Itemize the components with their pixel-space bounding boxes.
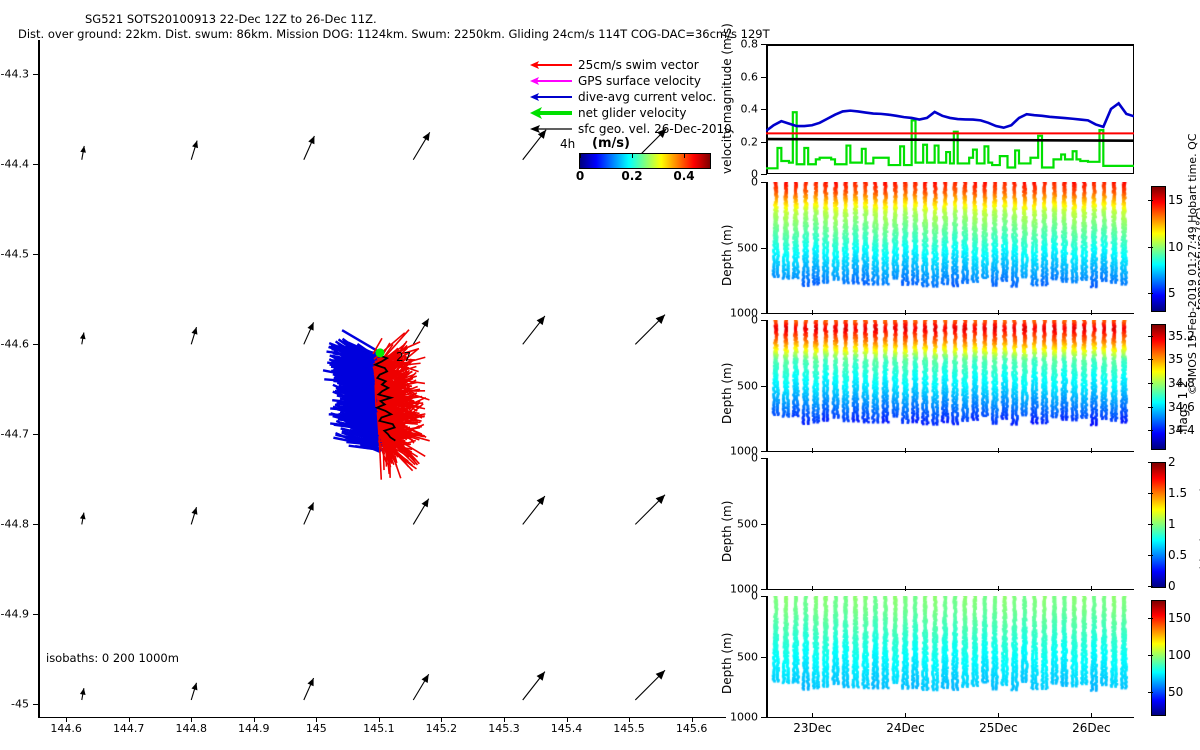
header-line-1: SG521 SOTS20100913 22-Dec 12Z to 26-Dec …: [85, 12, 377, 26]
depth-tick-label: 500: [737, 651, 758, 664]
depth-tick-label: 0: [751, 590, 758, 603]
arrow-icon: [530, 75, 574, 87]
salinity-y-axis-label: Depth (m): [720, 363, 734, 424]
colorbar-tick: [1148, 293, 1153, 294]
velocity-y-axis-label: velocity magnitude (m/s): [720, 23, 734, 174]
colorbar-tick-label: 1.5: [1168, 486, 1187, 500]
map-y-tick-label: -44.7: [1, 428, 29, 441]
colorbar-tick: [684, 153, 685, 158]
chlorophyll-panel[interactable]: 05001000 Depth (m) 00.511.52 chl-a (mg m…: [766, 458, 1134, 590]
map-y-tick-label: -44.9: [1, 608, 29, 621]
legend-item-swim-vector[interactable]: 25cm/s swim vector: [530, 57, 730, 73]
map-x-tick-label: 145: [306, 722, 327, 735]
time-tick: [1091, 448, 1092, 453]
chlorophyll-y-axis-label: Depth (m): [720, 501, 734, 562]
colorbar-tick: [1148, 586, 1153, 587]
time-tick-label: 23Dec: [793, 721, 832, 735]
map-x-tick-label: 145.6: [676, 722, 708, 735]
colorbar-tick-label: 35: [1168, 352, 1183, 366]
time-tick: [998, 586, 999, 591]
temperature-panel[interactable]: 05001000 Depth (m) 51015 temperature (°C…: [766, 182, 1134, 314]
colorbar-tick-label: 0: [1168, 579, 1176, 593]
colorbar-tick: [1148, 555, 1153, 556]
arrow-icon: [530, 91, 574, 103]
velocity-y-tick: [761, 174, 767, 175]
depth-tick-label: 0: [751, 452, 758, 465]
legend-label: GPS surface velocity: [578, 74, 701, 88]
colorbar-tick-label: 0.4: [673, 169, 694, 183]
map-legend: 25cm/s swim vector GPS surface velocity …: [530, 57, 730, 137]
map-x-tick-label: 144.9: [238, 722, 270, 735]
oxygen-saturation-panel[interactable]: 05001000 Depth (m) 50100150 Ox. sat. rat…: [766, 596, 1134, 718]
colorbar-tick: [1148, 247, 1153, 248]
colorbar-tick-label: 0.5: [1168, 548, 1187, 562]
time-tick: [812, 586, 813, 591]
colorbar-tick-label: 0.2: [621, 169, 642, 183]
colorbar-tick: [1148, 618, 1153, 619]
colorbar-tick-label: 10: [1168, 240, 1183, 254]
map-colorbar: [579, 153, 711, 169]
time-tick: [905, 448, 906, 453]
colorbar-tick-label: 150: [1168, 611, 1191, 625]
time-tick-label: 25Dec: [979, 721, 1018, 735]
colorbar-tick: [1148, 200, 1153, 201]
colorbar-tick: [1148, 336, 1153, 337]
legend-item-sfc-geo-velocity[interactable]: sfc geo. vel. 26-Dec-2010: [530, 121, 730, 137]
isobaths-label: isobaths: 0 200 1000m: [46, 651, 179, 665]
time-tick: [1091, 713, 1092, 718]
velocity-y-tick-label: 0.4: [741, 103, 759, 116]
time-tick: [1091, 310, 1092, 315]
colorbar-tick: [1148, 655, 1153, 656]
arrow-icon: [530, 59, 574, 71]
header-line-2: Dist. over ground: 22km. Dist. swum: 86k…: [18, 27, 770, 41]
colorbar-tick: [580, 153, 581, 158]
time-tick: [812, 713, 813, 718]
map-x-tick-label: 145.4: [551, 722, 583, 735]
map-y-tick-label: -44.4: [1, 158, 29, 171]
oxygen-section-canvas: [767, 596, 1135, 718]
legend-label: sfc geo. vel. 26-Dec-2010: [578, 122, 732, 136]
chlorophyll-colorbar: [1151, 462, 1166, 588]
time-tick: [812, 448, 813, 453]
colorbar-tick: [1148, 359, 1153, 360]
map-x-tick-label: 145.2: [426, 722, 458, 735]
legend-item-dive-avg-current[interactable]: dive-avg current veloc.: [530, 89, 730, 105]
map-x-tick-label: 145.5: [613, 722, 645, 735]
colorbar-units-label: (m/s): [592, 136, 630, 151]
legend-label: dive-avg current veloc.: [578, 90, 716, 104]
time-tick: [905, 310, 906, 315]
depth-tick-label: 500: [737, 242, 758, 255]
colorbar-tick: [1148, 493, 1153, 494]
dive-number-label: 27: [396, 350, 411, 364]
colorbar-tick: [1148, 462, 1153, 463]
colorbar-tick: [1148, 407, 1153, 408]
qc-flags-text: flags 1 2: [1176, 380, 1190, 432]
oxygen-colorbar: [1151, 600, 1166, 716]
map-x-tick-label: 144.7: [113, 722, 145, 735]
velocity-magnitude-panel[interactable]: 00.20.40.60.8 velocity magnitude (m/s): [766, 44, 1134, 174]
temperature-section-canvas: [767, 182, 1135, 314]
legend-item-net-glider-velocity[interactable]: net glider velocity: [530, 105, 730, 121]
depth-tick: [761, 524, 767, 525]
legend-item-gps-surface-velocity[interactable]: GPS surface velocity: [530, 73, 730, 89]
depth-tick: [761, 589, 767, 590]
colorbar-tick: [1148, 524, 1153, 525]
temperature-y-axis-label: Depth (m): [720, 225, 734, 286]
time-tick-label: 26Dec: [1072, 721, 1111, 735]
colorbar-tick-label: 100: [1168, 648, 1191, 662]
time-tick: [998, 448, 999, 453]
depth-tick-label: 500: [737, 380, 758, 393]
arrow-icon: [530, 123, 574, 135]
salinity-panel[interactable]: 05001000 Depth (m) 34.434.634.83535.2 sa…: [766, 320, 1134, 452]
map-y-tick-label: -44.8: [1, 518, 29, 531]
map-x-tick-label: 145.1: [363, 722, 395, 735]
time-tick: [905, 586, 906, 591]
map-y-tick-label: -45: [11, 698, 29, 711]
colorbar-tick-label: 0: [576, 169, 584, 183]
map-y-tick-label: -44.3: [1, 68, 29, 81]
depth-tick-label: 0: [751, 176, 758, 189]
colorbar-tick-label: 5: [1168, 286, 1176, 300]
time-tick: [905, 713, 906, 718]
time-tick: [812, 310, 813, 315]
time-scale-label: 4h: [560, 137, 575, 151]
time-tick: [998, 713, 999, 718]
depth-tick-label: 0: [751, 314, 758, 327]
oxygen-y-axis-label: Depth (m): [720, 633, 734, 694]
velocity-y-tick-label: 0.8: [741, 38, 759, 51]
velocity-y-tick-label: 0.2: [741, 135, 759, 148]
map-y-tick-label: -44.5: [1, 248, 29, 261]
colorbar-tick-label: 1: [1168, 517, 1176, 531]
map-y-tick-label: -44.6: [1, 338, 29, 351]
depth-tick: [761, 458, 767, 459]
map-x-tick-label: 144.6: [50, 722, 82, 735]
legend-label: net glider velocity: [578, 106, 686, 120]
colorbar-tick: [1148, 383, 1153, 384]
map-x-tick-label: 145.3: [488, 722, 520, 735]
colorbar-tick: [632, 153, 633, 158]
depth-tick-label: 500: [737, 518, 758, 531]
velocity-series-plot: [766, 44, 1134, 174]
map-x-tick-label: 144.8: [175, 722, 207, 735]
axis-bottom: [766, 589, 1134, 591]
colorbar-tick: [1148, 692, 1153, 693]
time-tick-label: 24Dec: [886, 721, 925, 735]
time-tick: [998, 310, 999, 315]
colorbar-tick: [1148, 430, 1153, 431]
colorbar-tick-label: 2: [1168, 455, 1176, 469]
temperature-colorbar: [1151, 186, 1166, 312]
depth-tick-label: 1000: [730, 711, 758, 724]
colorbar-tick-label: 15: [1168, 193, 1183, 207]
copyright-text: © IMOS 15-Feb-2019 01:27:49 Hobart time.…: [1186, 134, 1199, 395]
velocity-y-tick-label: 0.6: [741, 70, 759, 83]
time-tick: [1091, 586, 1092, 591]
salinity-colorbar: [1151, 324, 1166, 450]
salinity-section-canvas: [767, 320, 1135, 452]
colorbar-tick-label: 50: [1168, 685, 1183, 699]
arrow-icon: [530, 107, 574, 119]
legend-label: 25cm/s swim vector: [578, 58, 699, 72]
